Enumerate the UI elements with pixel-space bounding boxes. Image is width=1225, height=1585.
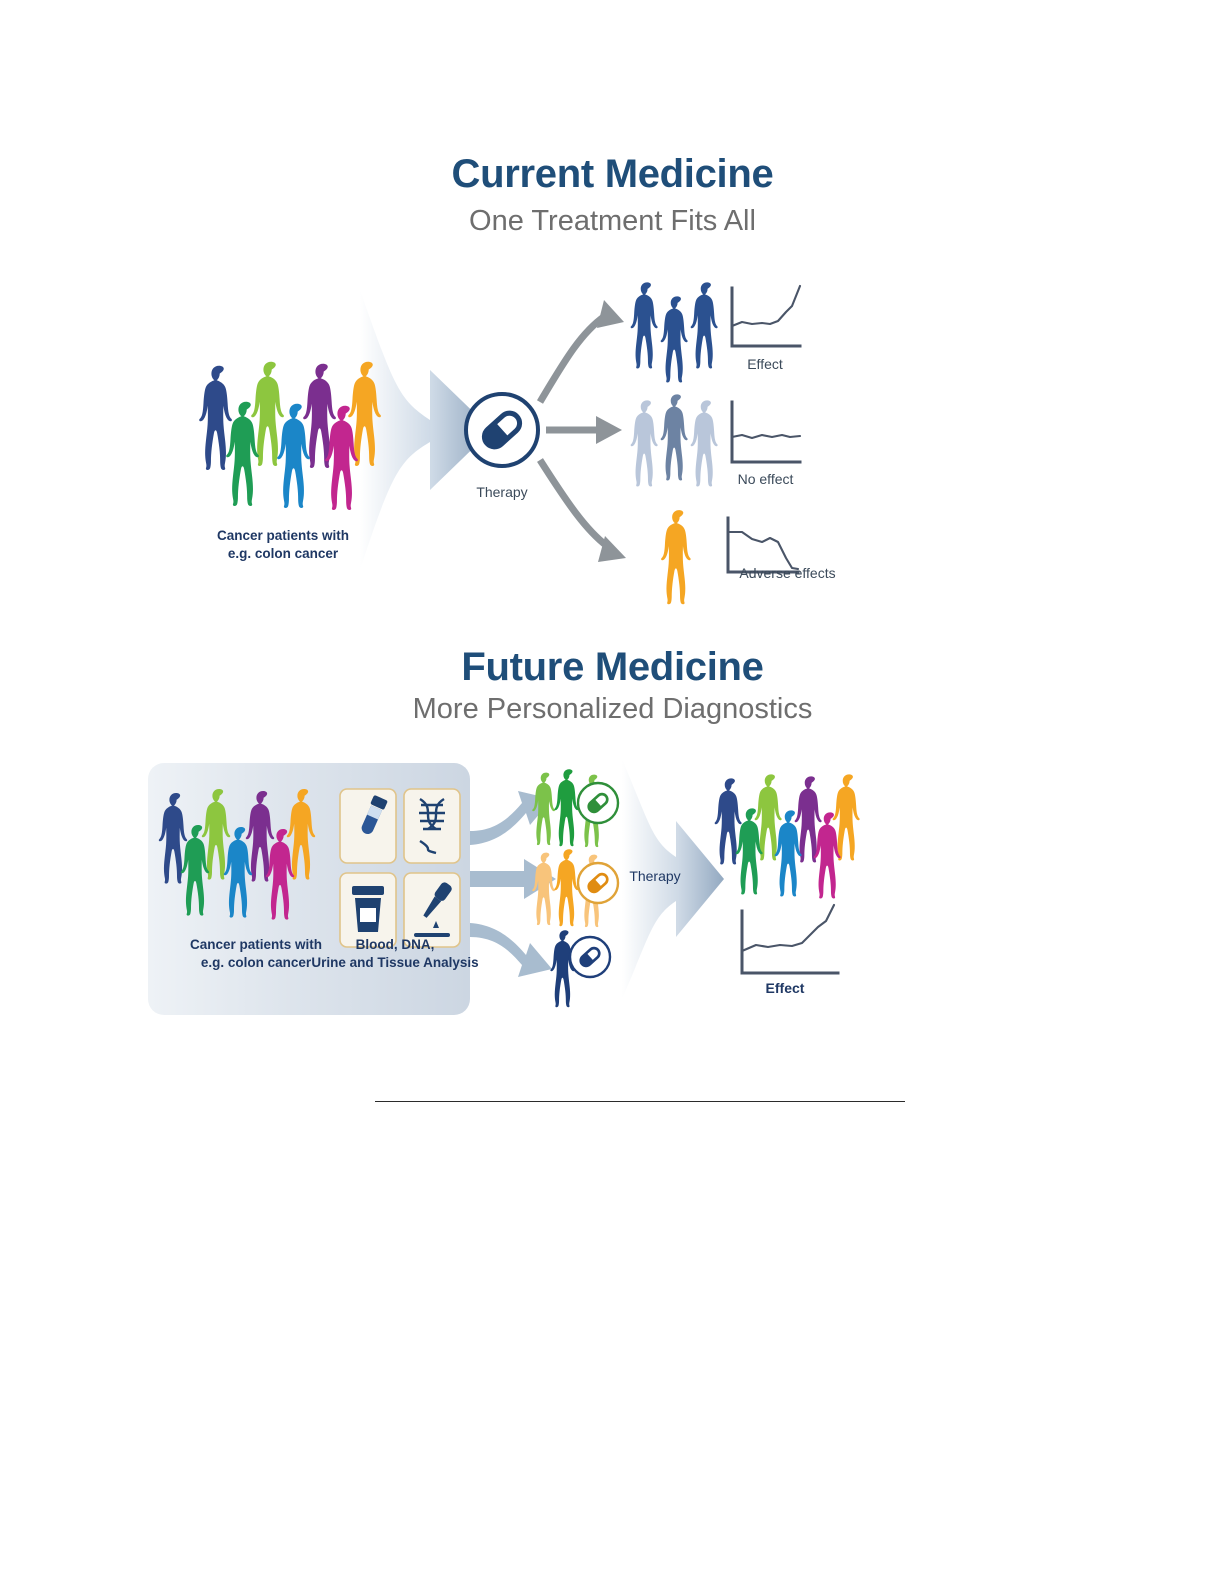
result-patient-group bbox=[715, 774, 860, 898]
outcome-label-effect: Effect bbox=[700, 356, 830, 372]
therapy-label-current: Therapy bbox=[432, 484, 572, 500]
future-medicine-diagram bbox=[0, 745, 1225, 1075]
caption-line-1: Cancer patients with bbox=[148, 527, 418, 545]
outcome-adverse-effects bbox=[661, 510, 798, 604]
caption-line-2: Urine and Tissue Analysis bbox=[300, 954, 490, 972]
stratified-group-green bbox=[532, 769, 618, 847]
future-medicine-subtitle: More Personalized Diagnostics bbox=[0, 693, 1225, 726]
chart-effect bbox=[732, 286, 800, 346]
result-label-effect: Effect bbox=[720, 980, 850, 996]
future-medicine-title: Future Medicine bbox=[0, 645, 1225, 690]
outcome-label-no-effect: No effect bbox=[698, 471, 833, 487]
tile-dna[interactable] bbox=[404, 789, 460, 863]
chart-no-effect bbox=[732, 402, 800, 462]
current-medicine-subtitle: One Treatment Fits All bbox=[0, 205, 1225, 238]
diagnostics-caption: Blood, DNA, Urine and Tissue Analysis bbox=[300, 936, 490, 972]
patient-group-current bbox=[199, 362, 381, 510]
bottom-divider bbox=[375, 1101, 905, 1102]
current-medicine-title: Current Medicine bbox=[0, 152, 1225, 197]
chart-future-effect bbox=[742, 905, 838, 973]
stratified-group-orange bbox=[532, 849, 618, 927]
therapy-label-future: Therapy bbox=[595, 868, 715, 884]
caption-line-2: e.g. colon cancer bbox=[148, 545, 418, 563]
therapy-pill-badge bbox=[466, 394, 538, 466]
tile-blood[interactable] bbox=[340, 789, 396, 863]
outcome-label-adverse-effects: Adverse effects bbox=[700, 565, 875, 581]
patient-group-caption-current: Cancer patients with e.g. colon cancer bbox=[148, 527, 418, 563]
caption-line-1: Blood, DNA, bbox=[300, 936, 490, 954]
stratified-group-navy bbox=[550, 930, 610, 1007]
infographic-page: Current Medicine One Treatment Fits All bbox=[0, 0, 1225, 1585]
outcome-arrowheads bbox=[596, 300, 626, 562]
chart-adverse bbox=[728, 518, 798, 572]
